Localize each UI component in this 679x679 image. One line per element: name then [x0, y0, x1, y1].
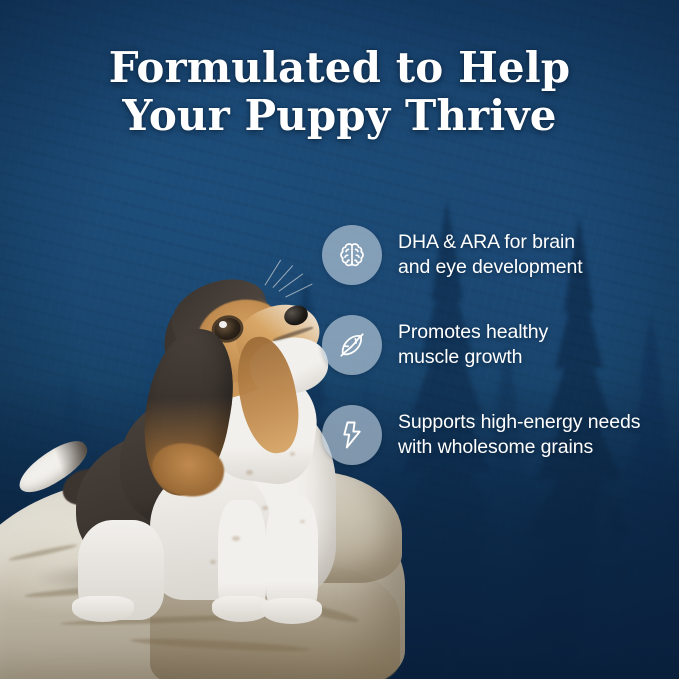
headline-line-2: Your Puppy Thrive	[0, 92, 679, 140]
feature-list: DHA & ARA for brain and eye development …	[322, 225, 662, 495]
feature-energy-line-1: Supports high-energy needs	[398, 410, 640, 435]
headline-line-1: Formulated to Help	[109, 43, 570, 92]
feature-muscle-line-1: Promotes healthy	[398, 320, 548, 345]
marketing-banner: Formulated to Help Your Puppy Thrive DHA…	[0, 0, 679, 679]
feature-item-brain: DHA & ARA for brain and eye development	[322, 225, 662, 285]
feature-text-brain: DHA & ARA for brain and eye development	[398, 230, 583, 280]
feature-item-energy: Supports high-energy needs with wholesom…	[322, 405, 662, 465]
lightning-bolt-icon	[322, 405, 382, 465]
feature-muscle-line-2: muscle growth	[398, 345, 548, 370]
feature-text-energy: Supports high-energy needs with wholesom…	[398, 410, 640, 460]
brain-icon	[322, 225, 382, 285]
muscle-icon	[322, 315, 382, 375]
feature-energy-line-2: with wholesome grains	[398, 435, 640, 460]
feature-item-muscle: Promotes healthy muscle growth	[322, 315, 662, 375]
feature-brain-line-2: and eye development	[398, 255, 583, 280]
feature-brain-line-1: DHA & ARA for brain	[398, 230, 583, 255]
feature-text-muscle: Promotes healthy muscle growth	[398, 320, 548, 370]
page-title: Formulated to Help Your Puppy Thrive	[0, 44, 679, 140]
